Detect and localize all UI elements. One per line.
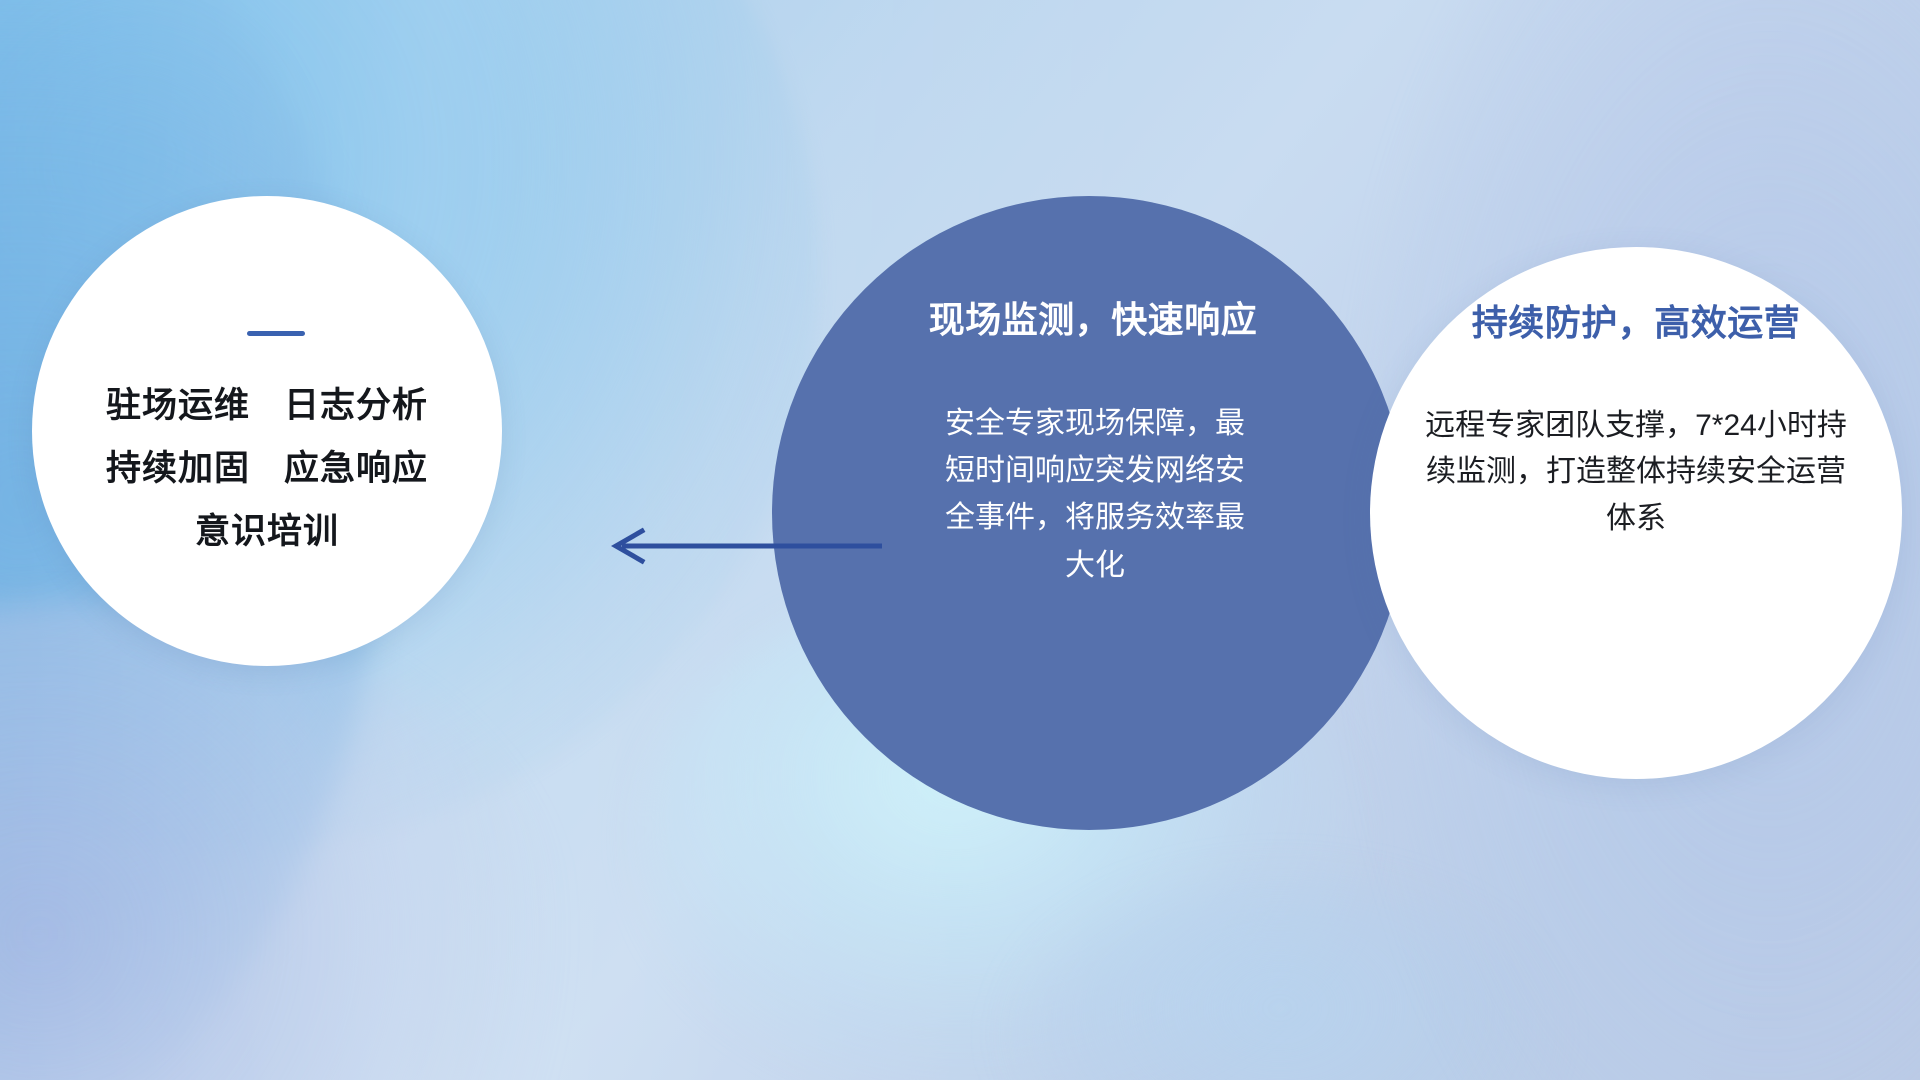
capability-tag: 日志分析 (284, 388, 428, 423)
capability-list: 驻场运维 日志分析 持续加固 应急响应 意识培训 (106, 388, 428, 549)
capability-tag: 应急响应 (284, 451, 428, 486)
left-white-circle: 驻场运维 日志分析 持续加固 应急响应 意识培训 (32, 196, 502, 666)
right-white-circle: 持续防护，高效运营 远程专家团队支撑，7*24小时持续监测，打造整体持续安全运营… (1370, 247, 1902, 779)
right-circle-body: 远程专家团队支撑，7*24小时持续监测，打造整体持续安全运营体系 (1421, 403, 1851, 543)
middle-circle-body: 安全专家现场保障，最短时间响应突发网络安全事件，将服务效率最大化 (935, 400, 1255, 590)
left-circle-content: 驻场运维 日志分析 持续加固 应急响应 意识培训 (32, 196, 502, 666)
slide-canvas: 现场监测，快速响应 安全专家现场保障，最短时间响应突发网络安全事件，将服务效率最… (0, 0, 1920, 1080)
capability-tag: 意识培训 (195, 514, 339, 549)
capability-row: 驻场运维 日志分析 (106, 388, 428, 423)
middle-dark-circle: 现场监测，快速响应 安全专家现场保障，最短时间响应突发网络安全事件，将服务效率最… (772, 196, 1406, 830)
arrow-left-icon (604, 526, 884, 566)
right-circle-title: 持续防护，高效运营 (1472, 303, 1801, 343)
right-circle-content: 持续防护，高效运营 远程专家团队支撑，7*24小时持续监测，打造整体持续安全运营… (1370, 247, 1902, 779)
middle-circle-title: 现场监测，快速响应 (929, 300, 1258, 340)
capability-tag: 驻场运维 (106, 388, 250, 423)
capability-row: 意识培训 (195, 514, 339, 549)
capability-row: 持续加固 应急响应 (106, 451, 428, 486)
middle-circle-content: 现场监测，快速响应 安全专家现场保障，最短时间响应突发网络安全事件，将服务效率最… (772, 196, 1406, 830)
capability-tag: 持续加固 (106, 451, 250, 486)
horizontal-dash-icon (247, 331, 305, 336)
